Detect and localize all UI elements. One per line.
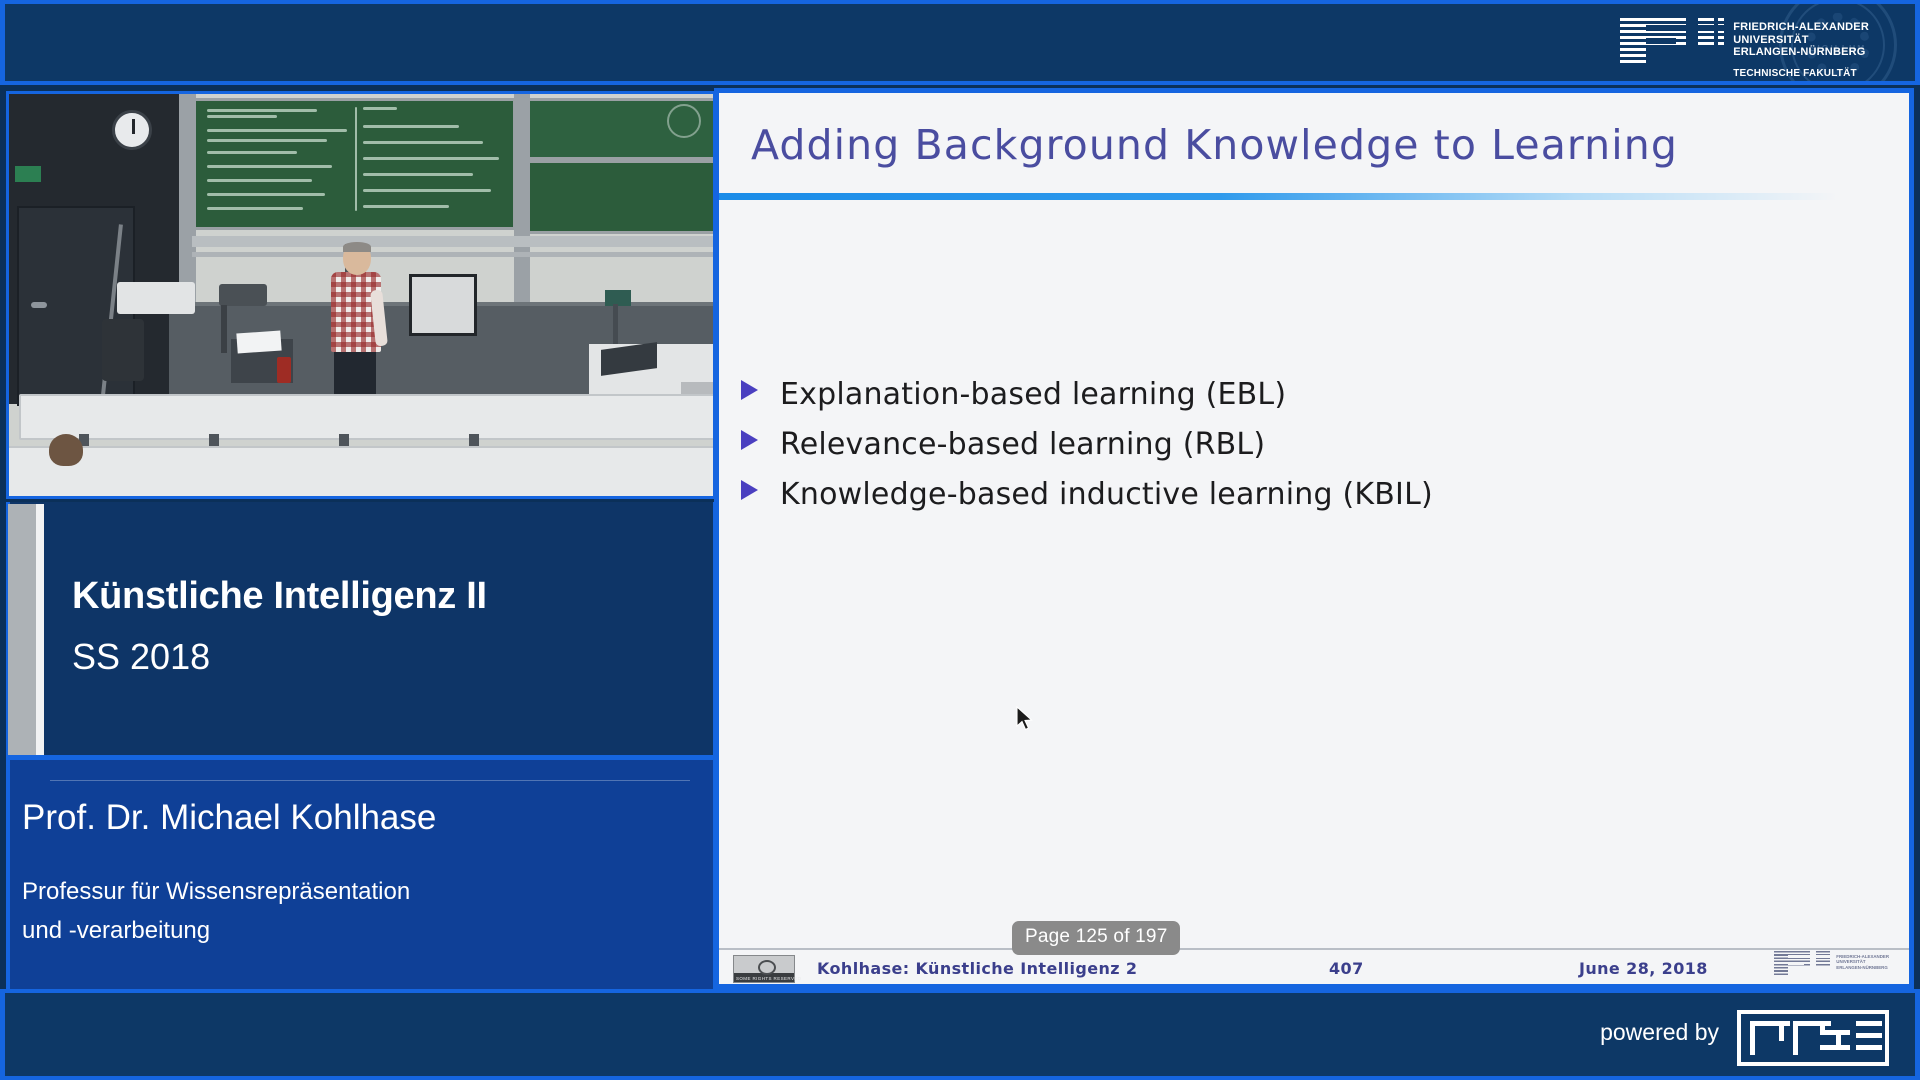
white-accent-stripe <box>36 504 44 755</box>
slide-footer-author: Kohlhase: Künstliche Intelligenz 2 <box>817 959 1137 978</box>
document-camera-arm <box>613 304 618 346</box>
student-head <box>49 434 83 466</box>
seat-row-front <box>6 446 716 499</box>
paper-sheets <box>236 330 281 353</box>
bullet-text: Relevance-based learning (RBL) <box>780 428 1265 462</box>
mouse-cursor <box>1016 706 1034 732</box>
fau-logo-slide-footer: FRIEDRICH-ALEXANDER UNIVERSITÄT ERLANGEN… <box>1774 951 1889 976</box>
list-item: Relevance-based learning (RBL) <box>741 428 1433 462</box>
fau-line-2: UNIVERSITÄT <box>1733 34 1869 47</box>
fau-wordmark-icon <box>1620 18 1724 64</box>
triangle-bullet-icon <box>741 430 758 450</box>
slide-bullet-list: Explanation-based learning (EBL) Relevan… <box>741 378 1433 528</box>
gray-accent-bar <box>8 504 36 755</box>
chalkboard-right-lower <box>524 160 716 234</box>
bullet-text: Explanation-based learning (EBL) <box>780 378 1286 412</box>
wall-panel <box>409 274 477 336</box>
list-item: Knowledge-based inductive learning (KBIL… <box>741 478 1433 512</box>
projector-arm <box>221 305 227 353</box>
fau-faculty-line: TECHNISCHE FAKULTÄT <box>1733 68 1869 81</box>
triangle-bullet-icon <box>741 480 758 500</box>
slide-footer-page-number: 407 <box>1329 959 1364 978</box>
board-pillar-right <box>514 94 530 324</box>
page-indicator-badge[interactable]: Page 125 of 197 <box>1012 921 1180 955</box>
course-term: SS 2018 <box>72 636 210 678</box>
slide-title-underline <box>719 193 1909 200</box>
triangle-bullet-icon <box>741 380 758 400</box>
presenter-affiliation: Professur für Wissensrepräsentation und … <box>22 872 410 950</box>
affiliation-line-2: und -verarbeitung <box>22 911 410 950</box>
sink-unit <box>117 282 195 314</box>
bullet-text: Knowledge-based inductive learning (KBIL… <box>780 478 1433 512</box>
rrze-logo-icon <box>1737 1010 1889 1066</box>
slide-footer-rule <box>719 948 1909 950</box>
fau-logo-small-text: FRIEDRICH-ALEXANDER UNIVERSITÄT ERLANGEN… <box>1836 951 1889 970</box>
red-equipment-box <box>277 357 291 383</box>
lecturer-hair <box>343 242 371 252</box>
projector-head <box>219 284 267 306</box>
waste-bin <box>102 319 144 381</box>
fau-sm-line-3: ERLANGEN-NÜRNBERG <box>1836 965 1889 970</box>
presenter-panel-rule <box>50 780 690 781</box>
lecture-video[interactable] <box>6 91 716 499</box>
top-header-bar: SIGILLUM FRIDERICO FRIEDRICH-ALEXANDER U… <box>0 0 1920 85</box>
fau-logo-text: FRIEDRICH-ALEXANDER UNIVERSITÄT ERLANGEN… <box>1733 18 1869 80</box>
bottom-footer-bar: powered by <box>0 989 1920 1080</box>
cc-badge-label: SOME RIGHTS RESERVED <box>736 976 801 981</box>
board-ledge <box>192 236 716 247</box>
desk-keyboard <box>681 382 715 394</box>
slide-title: Adding Background Knowledge to Learning <box>751 121 1678 169</box>
course-title-panel <box>6 502 716 757</box>
powered-by-label: powered by <box>1600 1019 1719 1046</box>
fau-logo-header: FRIEDRICH-ALEXANDER UNIVERSITÄT ERLANGEN… <box>1620 18 1869 80</box>
exit-sign-icon <box>15 166 41 182</box>
board-ledge-lower <box>192 252 716 257</box>
player-window: SIGILLUM FRIDERICO FRIEDRICH-ALEXANDER U… <box>0 0 1920 1080</box>
slide-panel[interactable]: Adding Background Knowledge to Learning … <box>714 88 1914 989</box>
fau-line-1: FRIEDRICH-ALEXANDER <box>1733 21 1869 34</box>
fau-wordmark-small-icon <box>1774 951 1830 976</box>
fau-line-3: ERLANGEN-NÜRNBERG <box>1733 46 1869 59</box>
wall-clock-icon <box>112 110 152 150</box>
door-handle <box>31 302 47 308</box>
creative-commons-icon: SOME RIGHTS RESERVED <box>733 955 795 983</box>
presenter-name: Prof. Dr. Michael Kohlhase <box>22 798 436 838</box>
seat-row-back <box>19 394 716 440</box>
document-camera-head <box>605 290 631 306</box>
slide-footer-date: June 28, 2018 <box>1579 959 1708 978</box>
course-title: Künstliche Intelligenz II <box>72 575 487 618</box>
hall-seal-icon <box>667 104 701 138</box>
affiliation-line-1: Professur für Wissensrepräsentation <box>22 872 410 911</box>
list-item: Explanation-based learning (EBL) <box>741 378 1433 412</box>
chalkboard-center <box>192 98 516 230</box>
